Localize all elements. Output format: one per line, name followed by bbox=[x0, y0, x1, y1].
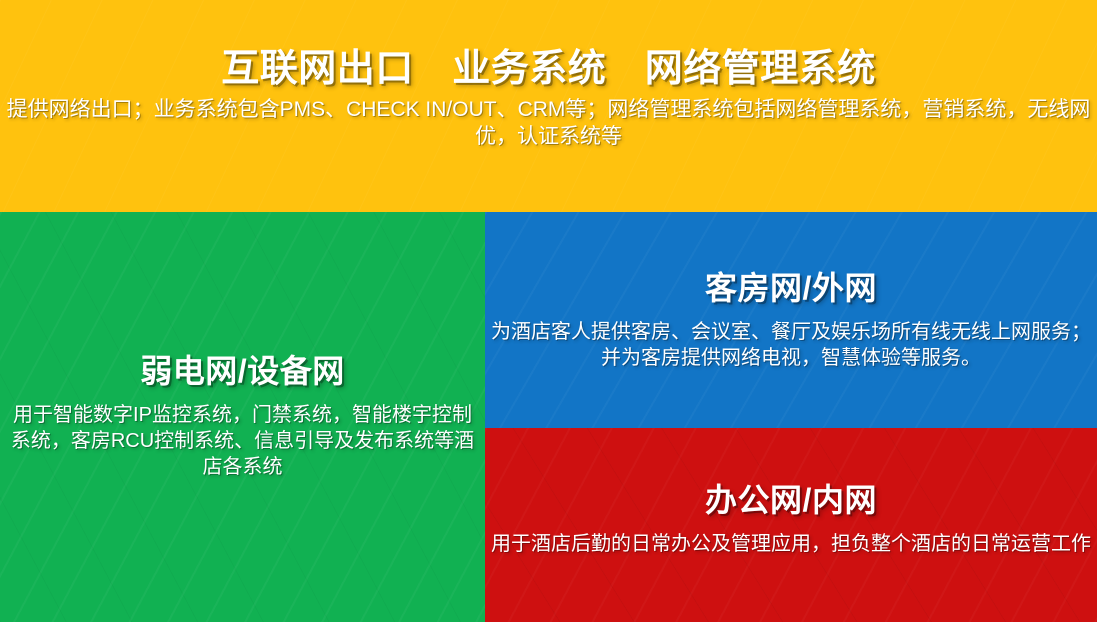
block-weak-current-network-description: 用于智能数字IP监控系统，门禁系统，智能楼宇控制系统，客房RCU控制系统、信息引… bbox=[4, 402, 481, 480]
block-guestroom-external-network: 客房网/外网 为酒店客人提供客房、会议室、餐厅及娱乐场所有线无线上网服务；并为客… bbox=[485, 212, 1097, 428]
network-architecture-slide: 互联网出口 业务系统 网络管理系统 提供网络出口；业务系统包含PMS、CHECK… bbox=[0, 0, 1097, 622]
block-office-internal-network-title: 办公网/内网 bbox=[485, 483, 1097, 519]
block-guestroom-external-network-description: 为酒店客人提供客房、会议室、餐厅及娱乐场所有线无线上网服务；并为客房提供网络电视… bbox=[489, 319, 1093, 371]
block-weak-current-network-title: 弱电网/设备网 bbox=[0, 354, 485, 390]
block-guestroom-external-network-title: 客房网/外网 bbox=[485, 271, 1097, 307]
block-weak-current-network: 弱电网/设备网 用于智能数字IP监控系统，门禁系统，智能楼宇控制系统，客房RCU… bbox=[0, 212, 485, 622]
block-office-internal-network: 办公网/内网 用于酒店后勤的日常办公及管理应用，担负整个酒店的日常运营工作 bbox=[485, 428, 1097, 622]
header-band-internet-egress: 互联网出口 业务系统 网络管理系统 提供网络出口；业务系统包含PMS、CHECK… bbox=[0, 0, 1097, 212]
header-description: 提供网络出口；业务系统包含PMS、CHECK IN/OUT、CRM等；网络管理系… bbox=[6, 96, 1091, 151]
header-title: 互联网出口 业务系统 网络管理系统 bbox=[0, 48, 1097, 91]
block-office-internal-network-description: 用于酒店后勤的日常办公及管理应用，担负整个酒店的日常运营工作 bbox=[489, 531, 1093, 557]
